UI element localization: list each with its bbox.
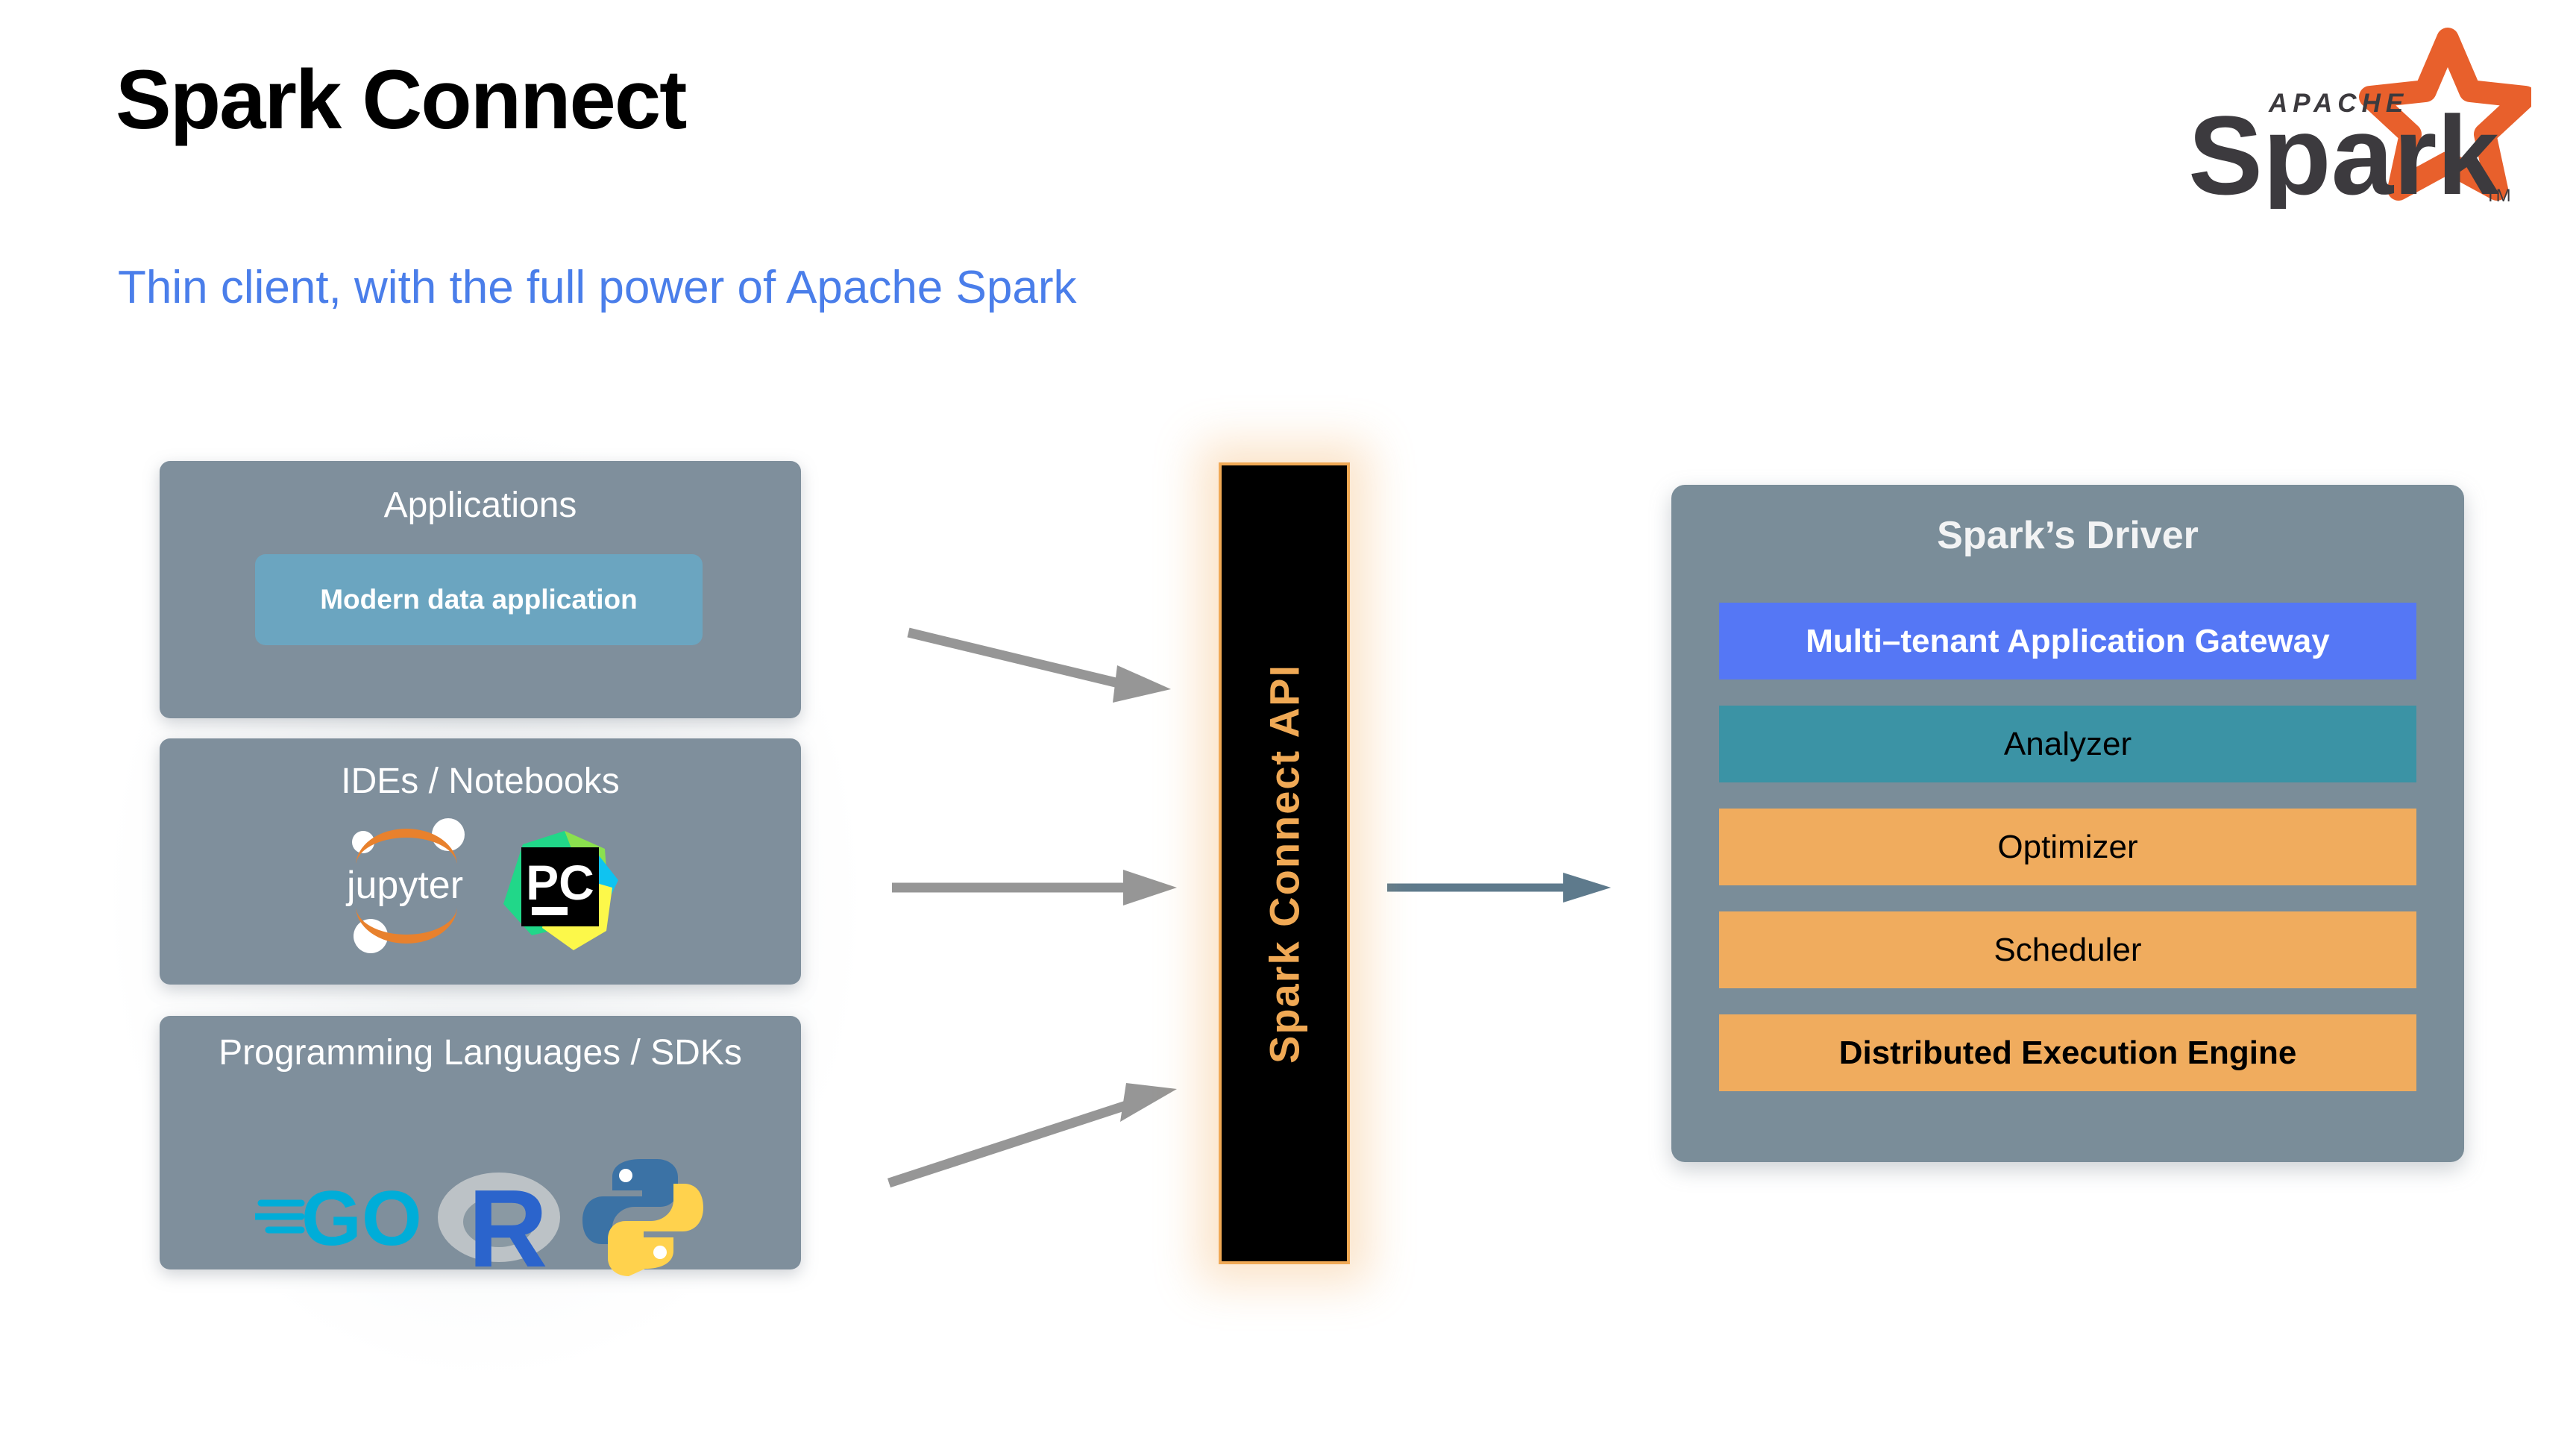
- driver-row-scheduler: Scheduler: [1719, 911, 2416, 988]
- card-title-programming-languages: Programming Languages / SDKs: [160, 1032, 801, 1075]
- spark-connect-api-label: Spark Connect API: [1260, 663, 1309, 1063]
- page-subtitle: Thin client, with the full power of Apac…: [118, 265, 1076, 311]
- python-logo: [579, 1149, 706, 1283]
- pycharm-wordmark: PC: [526, 855, 594, 910]
- arrow-applications-to-api: [880, 597, 1193, 731]
- go-logo: GO: [255, 1167, 423, 1264]
- r-wordmark: R: [468, 1167, 547, 1279]
- client-card-applications: Applications Modern data application: [160, 461, 801, 718]
- language-logo-row: GO R: [160, 1149, 801, 1283]
- page-title: Spark Connect: [116, 58, 685, 142]
- apache-spark-logo: APACHE Spark TM: [2181, 22, 2531, 209]
- client-card-ides-notebooks: IDEs / Notebooks jupyter PC: [160, 738, 801, 985]
- driver-row-multi-tenant-application-gateway: Multi–tenant Application Gateway: [1719, 603, 2416, 679]
- sparks-driver-panel: Spark’s Driver Multi–tenant Application …: [1671, 485, 2464, 1162]
- trademark-symbol: TM: [2485, 186, 2511, 206]
- driver-row-optimizer: Optimizer: [1719, 809, 2416, 885]
- driver-row-analyzer: Analyzer: [1719, 706, 2416, 782]
- arrow-languages-to-api: [880, 1052, 1193, 1201]
- pycharm-logo: PC: [493, 819, 623, 957]
- driver-row-distributed-execution-engine: Distributed Execution Engine: [1719, 1014, 2416, 1091]
- modern-data-application-box: Modern data application: [255, 554, 703, 645]
- jupyter-wordmark: jupyter: [345, 864, 462, 907]
- sparks-driver-title: Spark’s Driver: [1671, 513, 2464, 558]
- go-wordmark: GO: [301, 1176, 422, 1261]
- client-card-programming-languages: Programming Languages / SDKs GO R: [160, 1016, 801, 1269]
- r-logo: R: [430, 1149, 572, 1283]
- card-title-ides-notebooks: IDEs / Notebooks: [160, 761, 801, 803]
- card-title-applications: Applications: [160, 485, 801, 527]
- arrow-ides-to-api: [880, 835, 1193, 940]
- spark-connect-api-bar: Spark Connect API: [1219, 462, 1350, 1264]
- arrow-api-to-driver: [1380, 843, 1626, 932]
- ide-logo-row: jupyter PC: [160, 817, 801, 958]
- spark-wordmark: Spark: [2188, 92, 2499, 209]
- jupyter-logo: jupyter: [338, 817, 474, 958]
